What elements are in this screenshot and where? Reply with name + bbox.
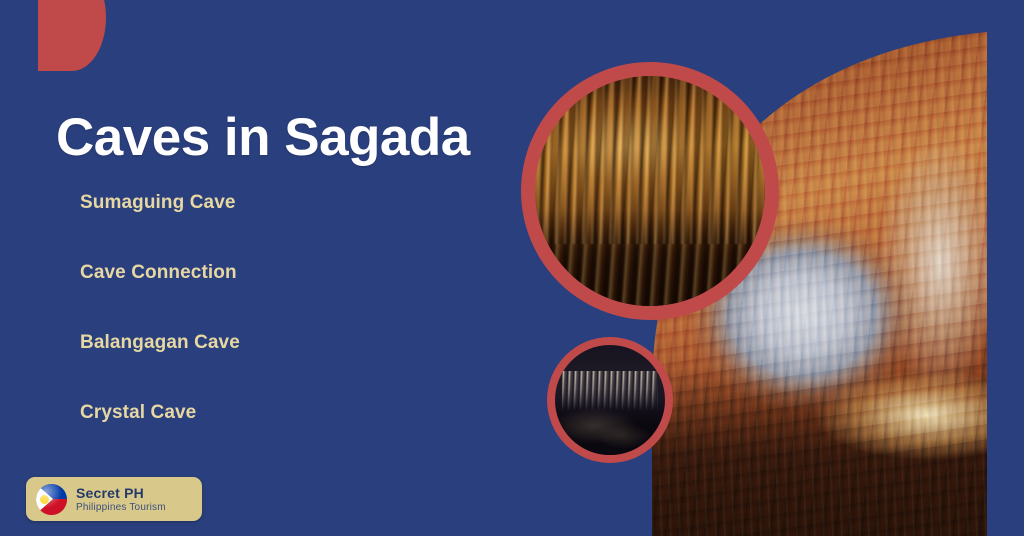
circle-inset-small [547, 337, 673, 463]
circle-inset-large-image-frame [535, 76, 765, 306]
stalactite-formation-image [535, 76, 765, 306]
logo-text-block: Secret PH Philippines Tourism [76, 485, 166, 514]
circle-inset-small-image-frame [555, 345, 665, 455]
globe-gloss [36, 484, 67, 515]
circle-inset-large [521, 62, 779, 320]
cave-list: Sumaguing Cave Cave Connection Balangaga… [80, 188, 500, 468]
philippine-flag-globe-icon [36, 484, 67, 515]
list-item: Cave Connection [80, 258, 500, 328]
logo-tagline: Philippines Tourism [76, 502, 166, 514]
list-item: Sumaguing Cave [80, 188, 500, 258]
page-title: Caves in Sagada [56, 110, 470, 166]
slide-canvas: Caves in Sagada Sumaguing Cave Cave Conn… [0, 0, 1024, 536]
list-item: Balangagan Cave [80, 328, 500, 398]
decorative-half-circle-shape [38, 0, 106, 71]
logo-badge[interactable]: Secret PH Philippines Tourism [26, 477, 202, 521]
logo-name: Secret PH [76, 485, 166, 501]
dark-cave-image [555, 345, 665, 455]
list-item: Crystal Cave [80, 398, 500, 468]
